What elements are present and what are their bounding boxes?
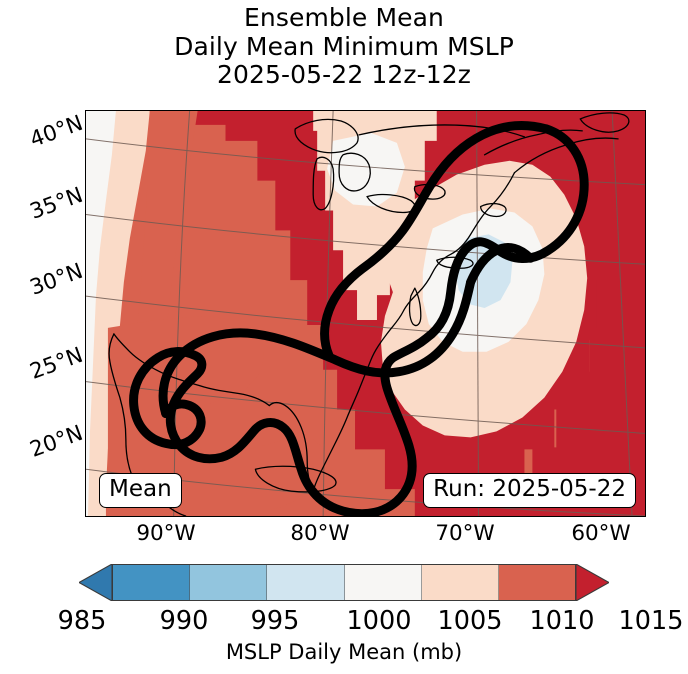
lat-label-40n: 40°N xyxy=(1,111,87,163)
colorbar-seg-990-995[interactable] xyxy=(190,565,267,600)
colorbar-segments[interactable] xyxy=(112,564,576,601)
run-annotation-box: Run: 2025-05-22 xyxy=(423,473,636,508)
colorbar-over-arrow xyxy=(576,564,609,601)
title-line-1: Ensemble Mean xyxy=(0,4,688,33)
mean-annotation-box: Mean xyxy=(99,473,182,508)
lon-label-80w: 80°W xyxy=(290,521,349,546)
lat-label-20n: 20°N xyxy=(1,421,87,473)
colorbar-under-arrow xyxy=(79,564,112,601)
colorbar-tick-995: 995 xyxy=(251,606,300,636)
colorbar-tick-1005: 1005 xyxy=(438,606,503,636)
colorbar-seg-1010-1015[interactable] xyxy=(499,565,575,600)
colorbar-tick-990: 990 xyxy=(160,606,209,636)
page-title: Ensemble Mean Daily Mean Minimum MSLP 20… xyxy=(0,4,688,90)
contour-fill-layer xyxy=(86,111,645,516)
lon-label-70w: 70°W xyxy=(435,521,494,546)
colorbar-seg-995-1000[interactable] xyxy=(267,565,344,600)
lat-label-25n: 25°N xyxy=(1,343,87,395)
colorbar-tick-1010: 1010 xyxy=(530,606,595,636)
colorbar-seg-1000-1005[interactable] xyxy=(345,565,422,600)
colorbar[interactable]: 985 990 995 1000 1005 1010 1015 MSLP Dai… xyxy=(0,556,688,674)
colorbar-seg-1005-1010[interactable] xyxy=(422,565,499,600)
colorbar-seg-985-990[interactable] xyxy=(113,565,190,600)
map-canvas xyxy=(86,111,645,516)
lon-label-60w: 60°W xyxy=(571,521,630,546)
colorbar-tick-985: 985 xyxy=(58,606,107,636)
colorbar-tick-1000: 1000 xyxy=(347,606,412,636)
colorbar-tick-1015: 1015 xyxy=(619,606,684,636)
lat-label-30n: 30°N xyxy=(1,259,87,311)
mslp-map[interactable]: Mean Run: 2025-05-22 xyxy=(85,110,646,517)
colorbar-title: MSLP Daily Mean (mb) xyxy=(0,640,688,664)
lat-label-35n: 35°N xyxy=(1,183,87,235)
title-line-3: 2025-05-22 12z-12z xyxy=(0,61,688,90)
lon-label-90w: 90°W xyxy=(136,521,195,546)
title-line-2: Daily Mean Minimum MSLP xyxy=(0,33,688,62)
